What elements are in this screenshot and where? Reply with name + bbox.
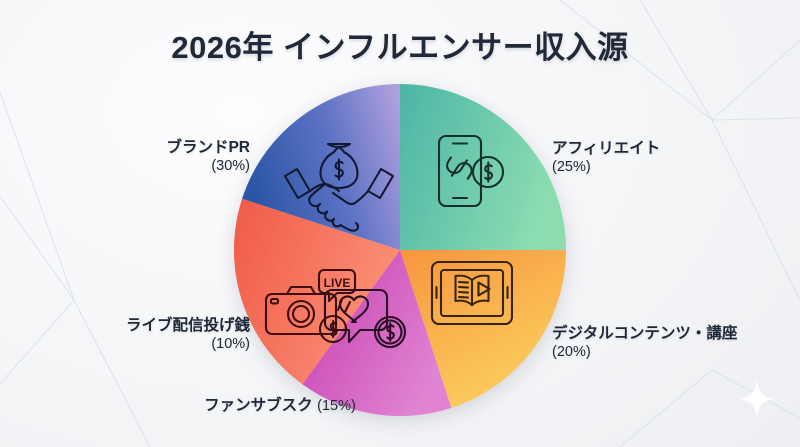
label-digital: デジタルコンテンツ・講座 (20%) <box>552 324 784 362</box>
label-livestream: ライブ配信投げ銭 (10%) <box>60 316 250 354</box>
label-fansub-percent: (15%) <box>317 398 356 414</box>
label-digital-percent: (20%) <box>552 343 784 361</box>
label-digital-name: デジタルコンテンツ・講座 <box>552 324 784 343</box>
slide-canvas: 2026年 インフルエンサー収入源 <box>0 0 800 447</box>
pie-slice-affiliate[interactable] <box>400 84 566 250</box>
sparkle-icon <box>740 379 774 419</box>
label-affiliate: アフィリエイト (25%) <box>552 139 762 177</box>
pie-chart: LIVE <box>232 82 568 418</box>
svg-text:LIVE: LIVE <box>324 276 351 290</box>
pie-chart-svg: LIVE <box>232 82 568 418</box>
label-fansub-name: ファンサブスク <box>204 397 313 414</box>
label-brandpr-percent: (30%) <box>60 157 250 175</box>
label-affiliate-percent: (25%) <box>552 158 762 176</box>
label-affiliate-name: アフィリエイト <box>552 139 762 158</box>
label-fansub: ファンサブスク (15%) <box>190 396 370 416</box>
label-brandpr-name: ブランドPR <box>60 138 250 157</box>
label-brandpr: ブランドPR (30%) <box>60 138 250 176</box>
label-livestream-name: ライブ配信投げ銭 <box>60 316 250 335</box>
page-title: 2026年 インフルエンサー収入源 <box>0 22 800 67</box>
label-livestream-percent: (10%) <box>60 335 250 353</box>
